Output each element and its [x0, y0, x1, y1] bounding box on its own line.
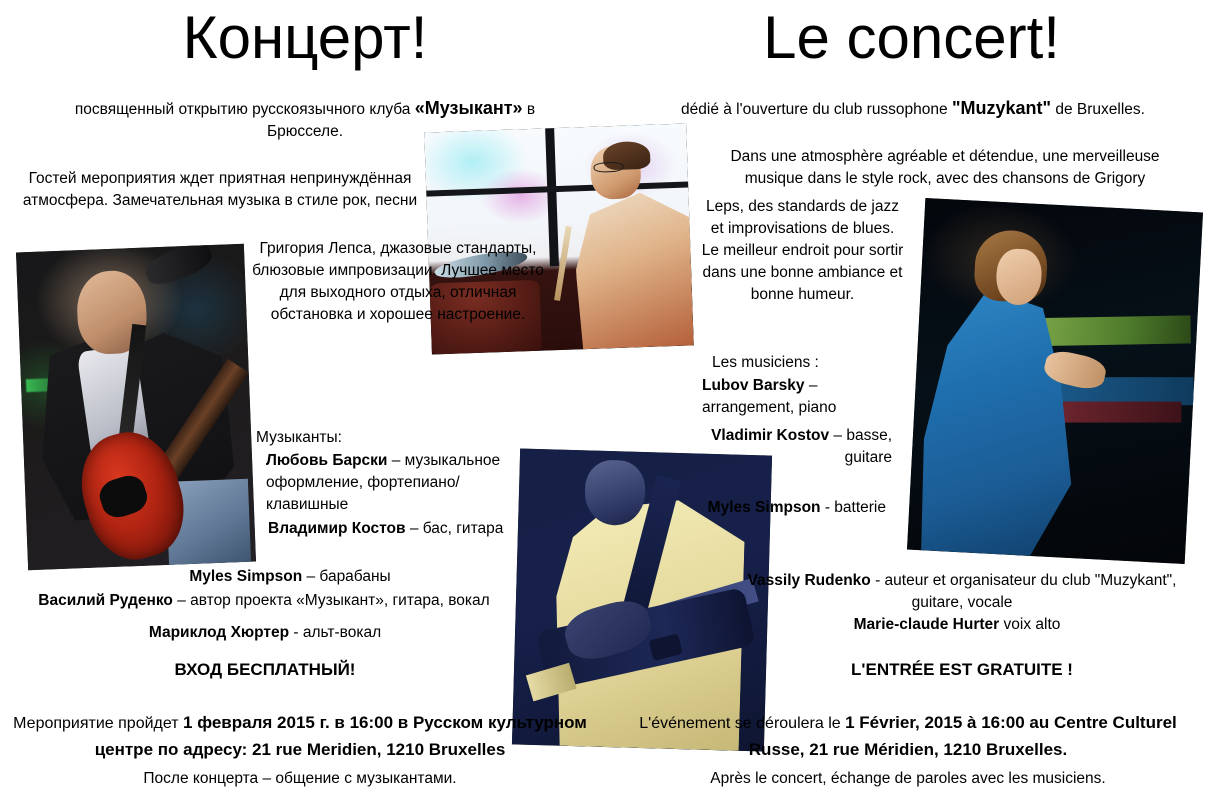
- musician-role-ru-4: - альт-вокал: [289, 624, 381, 641]
- musician-role-ru-1: – бас, гитара: [406, 520, 504, 537]
- musician-name-fr-4: Marie-claude Hurter: [854, 616, 1000, 633]
- musician-entry-fr-0: Lubov Barsky – arrangement, piano: [702, 375, 902, 419]
- concert-poster: Концерт! посвященный открытию русскоязыч…: [0, 0, 1213, 798]
- subtitle-french: dédié à l'ouverture du club russophone "…: [630, 95, 1196, 121]
- venue-fr-after: Après le concert, échange de paroles ave…: [620, 767, 1196, 791]
- musician-name-ru-2: Myles Simpson: [189, 568, 302, 585]
- venue-ru-pre: Мероприятие пройдет: [13, 715, 183, 732]
- bass-guitarist-photo: [512, 449, 772, 752]
- musician-name-ru-3: Василий Руденко: [38, 592, 173, 609]
- musician-name-ru-4: Мариклод Хюртер: [149, 624, 289, 641]
- musician-name-fr-3: Vassily Rudenko: [748, 572, 871, 589]
- musician-name-fr-0: Lubov Barsky: [702, 377, 805, 394]
- microphone-shape: [141, 244, 215, 290]
- musician-name-fr-2: Myles Simpson: [708, 499, 821, 516]
- pianist-photo-content: [907, 198, 1203, 564]
- musician-name-fr-1: Vladimir Kostov: [711, 427, 829, 444]
- piano-lid-shape: [1030, 316, 1192, 347]
- musician-role-ru-3: – автор проекта «Музыкант», гитара, вока…: [173, 592, 490, 609]
- page-title-russian: Концерт!: [0, 8, 610, 68]
- page-title-french: Le concert!: [610, 8, 1213, 68]
- intro-paragraph-french-2: Leps, des standards de jazz et improvisa…: [700, 196, 905, 306]
- subtitle-ru-club: «Музыкант»: [415, 98, 523, 118]
- musician-role-fr-3: - auteur et organisateur du club "Muzyka…: [871, 572, 1177, 611]
- musician-entry-ru-0: Любовь Барски – музыкальное оформление, …: [266, 450, 516, 516]
- venue-details-french: L'événement se déroulera le 1 Février, 2…: [620, 710, 1196, 791]
- pianist-photo: [907, 198, 1203, 564]
- musician-name-ru-0: Любовь Барски: [266, 452, 387, 469]
- guitarist-photo-content: [16, 244, 256, 571]
- venue-details-russian: Мероприятие пройдет 1 февраля 2015 г. в …: [10, 710, 590, 791]
- subtitle-fr-pre: dédié à l'ouverture du club russophone: [681, 101, 952, 118]
- musician-entry-fr-3: Vassily Rudenko - auteur et organisateur…: [742, 570, 1182, 614]
- musician-role-ru-2: – барабаны: [302, 568, 390, 585]
- musician-entry-ru-2: Myles Simpson – барабаны: [10, 566, 570, 588]
- subtitle-fr-club: "Muzykant": [952, 98, 1051, 118]
- subtitle-ru-pre: посвященный открытию русскоязычного клуб…: [75, 101, 415, 118]
- window-frame-horizontal: [426, 181, 688, 197]
- musician-entry-ru-1: Владимир Костов – бас, гитара: [268, 518, 518, 540]
- free-entry-badge-french: L'ENTRÉE EST GRATUITE !: [742, 660, 1182, 680]
- musician-role-fr-2: - batterie: [821, 499, 886, 516]
- musician-entry-fr-1: Vladimir Kostov – basse, guitare: [700, 425, 892, 469]
- intro-paragraph-russian-2: Григория Лепса, джазовые стандарты, блюз…: [248, 238, 548, 326]
- bassist-photo-content: [512, 449, 772, 752]
- subtitle-fr-post: de Bruxelles.: [1051, 101, 1145, 118]
- musician-role-fr-4: voix alto: [999, 616, 1060, 633]
- musicians-heading-russian: Музыканты:: [256, 427, 516, 449]
- drummer-body-shape: [573, 181, 694, 349]
- intro-paragraph-french-1: Dans une atmosphère agréable et détendue…: [700, 146, 1190, 190]
- musician-name-ru-1: Владимир Костов: [268, 520, 406, 537]
- intro-paragraph-russian-1: Гостей мероприятия ждет приятная неприну…: [10, 168, 430, 212]
- venue-ru-after: После концерта – общение с музыкантами.: [10, 767, 590, 791]
- musicians-heading-french: Les musiciens :: [712, 352, 912, 374]
- musician-entry-ru-4: Мариклод Хюртер - альт-вокал: [10, 622, 520, 644]
- musician-entry-ru-3: Василий Руденко – автор проекта «Музыкан…: [4, 590, 524, 612]
- subtitle-russian: посвященный открытию русскоязычного клуб…: [40, 95, 570, 144]
- musician-entry-fr-2: Myles Simpson - batterie: [700, 497, 886, 519]
- free-entry-badge-russian: ВХОД БЕСПЛАТНЫЙ!: [10, 660, 520, 680]
- guitarist-vocalist-photo: [16, 244, 256, 571]
- musician-role-fr-1: – basse, guitare: [829, 427, 892, 466]
- venue-fr-pre: L'événement se déroulera le: [639, 715, 845, 732]
- musician-entry-fr-4: Marie-claude Hurter voix alto: [742, 614, 1172, 636]
